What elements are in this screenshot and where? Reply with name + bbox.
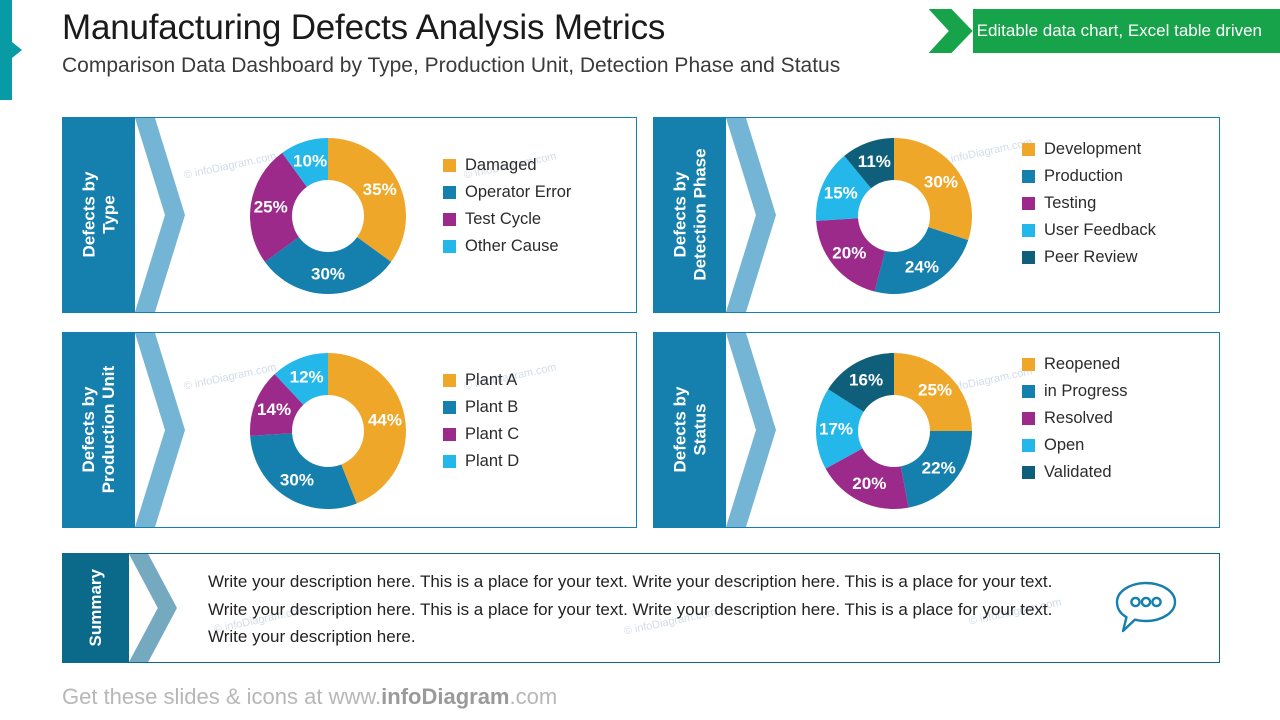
legend-item[interactable]: Peer Review — [1022, 248, 1156, 267]
legend-item[interactable]: in Progress — [1022, 382, 1127, 401]
panel-banner-block: Defects by Type — [63, 118, 135, 312]
legend-swatch-icon — [1022, 224, 1035, 237]
legend-label: Test Cycle — [465, 210, 541, 229]
legend-label: User Feedback — [1044, 221, 1156, 240]
legend-label: Plant A — [465, 371, 517, 390]
panel-title-line-2: Status — [690, 404, 709, 456]
legend-swatch-icon — [1022, 170, 1035, 183]
ribbon-arrow-icon — [929, 9, 973, 53]
legend-swatch-icon — [1022, 439, 1035, 452]
legend-swatch-icon — [443, 213, 456, 226]
donut-svg: 35%30%25%10% — [248, 136, 408, 296]
summary-banner-chevron-icon — [129, 554, 177, 662]
footer-link[interactable]: Get these slides & icons at www.infoDiag… — [62, 684, 557, 710]
legend-label: Open — [1044, 436, 1084, 455]
panel-title-defects-by-production-unit: Defects by Production Unit — [79, 366, 118, 493]
donut-slice-label: 22% — [922, 458, 956, 477]
legend-item[interactable]: Plant A — [443, 371, 519, 390]
donut-chart-defects-by-detection-phase: 30%24%20%15%11% — [814, 136, 974, 296]
donut-slice-label: 16% — [849, 371, 883, 390]
panel-banner: Defects by Type — [63, 118, 185, 312]
legend-swatch-icon — [1022, 466, 1035, 479]
panel-title-defects-by-type: Defects by Type — [79, 172, 118, 258]
legend-label: Other Cause — [465, 237, 559, 256]
left-accent-decoration — [0, 0, 24, 100]
legend-item[interactable]: Other Cause — [443, 237, 571, 256]
donut-slice-label: 24% — [905, 257, 939, 276]
legend-label: Operator Error — [465, 183, 571, 202]
editable-chart-ribbon: Editable data chart, Excel table driven — [929, 9, 1280, 53]
donut-svg: 25%22%20%17%16% — [814, 351, 974, 511]
legend-swatch-icon — [443, 455, 456, 468]
legend-label: Damaged — [465, 156, 537, 175]
summary-description: Write your description here. This is a p… — [208, 568, 1078, 651]
legend-defects-by-production-unit: Plant APlant BPlant CPlant D — [443, 371, 519, 479]
page-title: Manufacturing Defects Analysis Metrics — [62, 8, 840, 48]
donut-slice-label: 10% — [293, 151, 327, 170]
legend-item[interactable]: Development — [1022, 140, 1156, 159]
donut-chart-defects-by-status: 25%22%20%17%16% — [814, 351, 974, 511]
panel-banner-block: Defects by Status — [654, 333, 726, 527]
legend-label: Plant D — [465, 452, 519, 471]
legend-item[interactable]: Test Cycle — [443, 210, 571, 229]
donut-slice-label: 30% — [280, 470, 314, 489]
legend-swatch-icon — [443, 159, 456, 172]
panel-title-defects-by-status: Defects by Status — [670, 387, 709, 473]
legend-swatch-icon — [1022, 358, 1035, 371]
panel-banner: Defects by Detection Phase — [654, 118, 776, 312]
donut-slice-label: 12% — [290, 368, 324, 387]
legend-item[interactable]: Plant B — [443, 398, 519, 417]
legend-item[interactable]: Plant D — [443, 452, 519, 471]
legend-item[interactable]: Operator Error — [443, 183, 571, 202]
legend-label: Plant C — [465, 425, 519, 444]
panel-banner-chevron-icon — [726, 118, 776, 312]
panel-summary: Summary © infoDiagram.com © infoDiagram.… — [62, 553, 1220, 663]
legend-defects-by-status: Reopenedin ProgressResolvedOpenValidated — [1022, 355, 1127, 490]
legend-swatch-icon — [443, 428, 456, 441]
legend-swatch-icon — [443, 374, 456, 387]
legend-defects-by-type: DamagedOperator ErrorTest CycleOther Cau… — [443, 156, 571, 264]
legend-defects-by-detection-phase: DevelopmentProductionTestingUser Feedbac… — [1022, 140, 1156, 275]
donut-svg: 44%30%14%12% — [248, 351, 408, 511]
legend-swatch-icon — [1022, 143, 1035, 156]
donut-slice-label: 25% — [254, 197, 288, 216]
legend-item[interactable]: Resolved — [1022, 409, 1127, 428]
donut-slice-label: 35% — [363, 180, 397, 199]
donut-slice-label: 17% — [819, 420, 853, 439]
speech-bubble-icon — [1113, 580, 1179, 638]
donut-slice-label: 15% — [824, 183, 858, 202]
legend-label: Resolved — [1044, 409, 1113, 428]
panel-banner-block: Defects by Production Unit — [63, 333, 135, 527]
legend-label: Production — [1044, 167, 1123, 186]
legend-label: in Progress — [1044, 382, 1127, 401]
legend-label: Validated — [1044, 463, 1112, 482]
donut-slice-label: 20% — [852, 474, 886, 493]
panel-banner-block: Defects by Detection Phase — [654, 118, 726, 312]
donut-slice-label: 20% — [832, 243, 866, 262]
donut-slice-label: 44% — [368, 411, 402, 430]
legend-swatch-icon — [443, 240, 456, 253]
summary-banner: Summary — [63, 554, 177, 662]
legend-swatch-icon — [1022, 412, 1035, 425]
panel-title-line-1: Defects by — [670, 172, 689, 258]
legend-swatch-icon — [443, 186, 456, 199]
panel-title-line-1: Defects by — [79, 172, 98, 258]
header: Manufacturing Defects Analysis Metrics C… — [62, 8, 840, 78]
panel-title-line-2: Type — [99, 196, 118, 234]
legend-item[interactable]: User Feedback — [1022, 221, 1156, 240]
donut-slice-label: 30% — [311, 265, 345, 284]
legend-label: Plant B — [465, 398, 518, 417]
legend-swatch-icon — [1022, 197, 1035, 210]
panel-banner-chevron-icon — [726, 333, 776, 527]
legend-item[interactable]: Plant C — [443, 425, 519, 444]
legend-item[interactable]: Validated — [1022, 463, 1127, 482]
donut-chart-defects-by-production-unit: 44%30%14%12% — [248, 351, 408, 511]
panel-defects-by-production-unit: Defects by Production Unit © infoDiagram… — [62, 332, 637, 528]
footer-suffix: .com — [510, 684, 558, 709]
page-subtitle: Comparison Data Dashboard by Type, Produ… — [62, 54, 840, 78]
donut-chart-defects-by-type: 35%30%25%10% — [248, 136, 408, 296]
legend-swatch-icon — [443, 401, 456, 414]
legend-label: Peer Review — [1044, 248, 1138, 267]
donut-svg: 30%24%20%15%11% — [814, 136, 974, 296]
panel-title-line-1: Defects by — [79, 387, 98, 473]
legend-item[interactable]: Open — [1022, 436, 1127, 455]
ribbon-label: Editable data chart, Excel table driven — [973, 9, 1280, 53]
legend-item[interactable]: Production — [1022, 167, 1156, 186]
donut-slice-label: 11% — [858, 152, 891, 171]
legend-label: Development — [1044, 140, 1141, 159]
donut-slice-label: 14% — [257, 400, 291, 419]
legend-swatch-icon — [1022, 251, 1035, 264]
panel-defects-by-status: Defects by Status © infoDiagram.com 25%2… — [653, 332, 1220, 528]
legend-swatch-icon — [1022, 385, 1035, 398]
donut-slice[interactable] — [328, 138, 406, 262]
panel-banner-chevron-icon — [135, 333, 185, 527]
panel-title-defects-by-detection-phase: Defects by Detection Phase — [670, 149, 709, 281]
panel-title-line-2: Detection Phase — [690, 149, 709, 281]
panel-defects-by-type: Defects by Type © infoDiagram.com © info… — [62, 117, 637, 313]
panel-defects-by-detection-phase: Defects by Detection Phase © infoDiagram… — [653, 117, 1220, 313]
panel-title-line-2: Production Unit — [99, 366, 118, 493]
summary-title: Summary — [86, 569, 106, 646]
donut-slice-label: 25% — [918, 380, 952, 399]
legend-item[interactable]: Damaged — [443, 156, 571, 175]
summary-banner-block: Summary — [63, 554, 129, 662]
legend-label: Testing — [1044, 194, 1096, 213]
legend-item[interactable]: Testing — [1022, 194, 1156, 213]
panel-banner-chevron-icon — [135, 118, 185, 312]
footer-brand: infoDiagram — [381, 684, 509, 709]
panel-title-line-1: Defects by — [670, 387, 689, 473]
legend-label: Reopened — [1044, 355, 1120, 374]
legend-item[interactable]: Reopened — [1022, 355, 1127, 374]
panel-banner: Defects by Status — [654, 333, 776, 527]
donut-slice-label: 30% — [924, 172, 958, 191]
footer-prefix: Get these slides & icons at www. — [62, 684, 381, 709]
panel-banner: Defects by Production Unit — [63, 333, 185, 527]
